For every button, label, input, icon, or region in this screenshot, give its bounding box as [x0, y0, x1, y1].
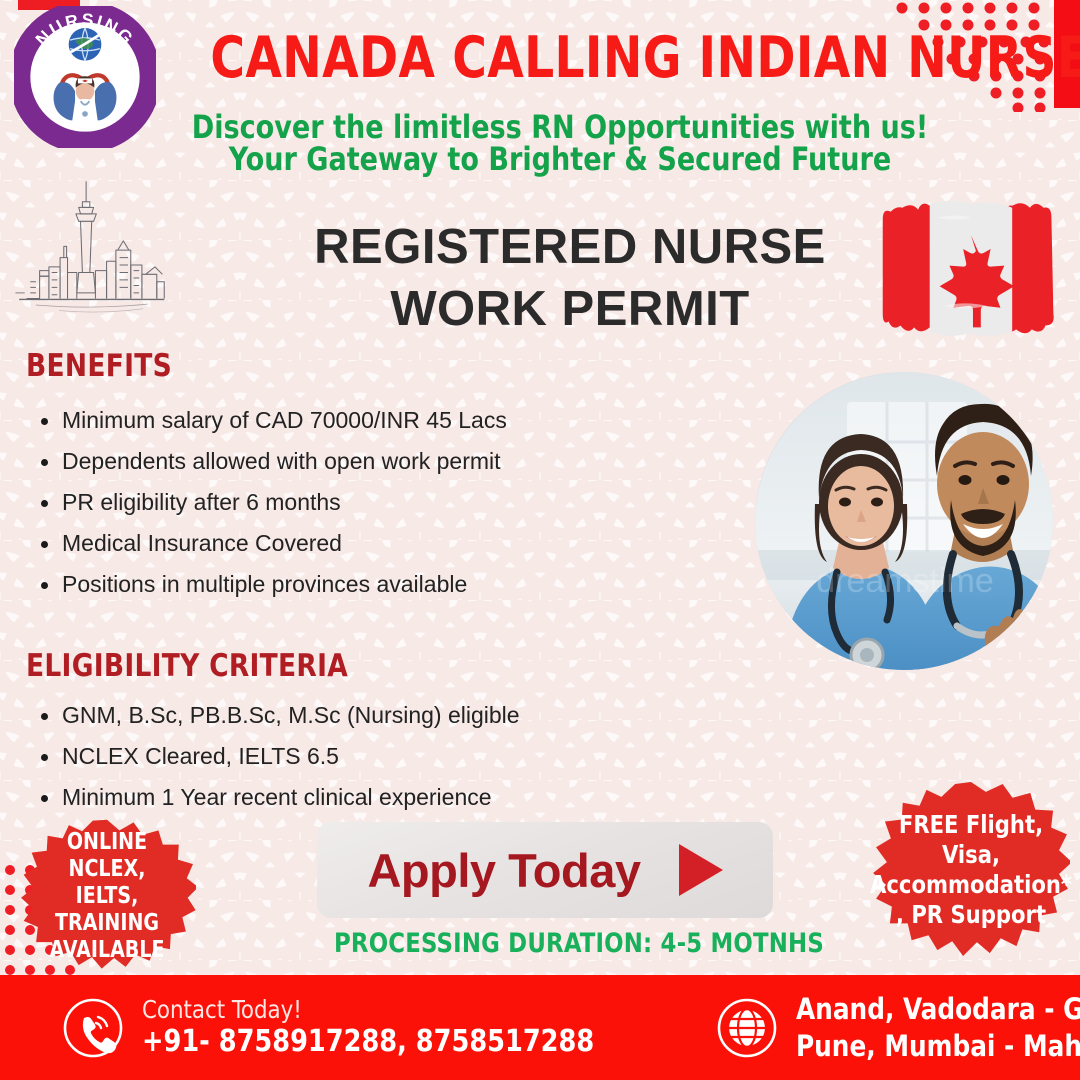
toronto-skyline-illustration: [8, 176, 194, 328]
play-triangle-icon: [679, 844, 723, 896]
list-item: PR eligibility after 6 months: [30, 482, 730, 523]
benefits-heading: BENEFITS: [26, 348, 172, 384]
contact-today-label: Contact Today!: [142, 996, 594, 1024]
two-nurses-photo: dreamstime: [755, 372, 1053, 670]
list-item: Positions in multiple provinces availabl…: [30, 564, 730, 605]
processing-duration-text: PROCESSING DURATION: 4-5 MOTNHS: [334, 928, 824, 959]
eligibility-list: GNM, B.Sc, PB.B.Sc, M.Sc (Nursing) eligi…: [30, 695, 730, 818]
free-benefits-badge: FREE Flight, Visa, Accommodation* , PR S…: [872, 780, 1070, 960]
benefits-list: Minimum salary of CAD 70000/INR 45 Lacs …: [30, 400, 730, 605]
list-item: Medical Insurance Covered: [30, 523, 730, 564]
globe-icon: [716, 997, 778, 1059]
contact-phone-numbers[interactable]: +91- 8758917288, 8758517288: [142, 1024, 594, 1060]
subheadline-2: Your Gateway to Brighter & Secured Futur…: [184, 140, 936, 178]
eligibility-heading: ELIGIBILITY CRITERIA: [26, 648, 348, 684]
address-line-1: Anand, Vadodara - Gujarat: [796, 991, 1080, 1028]
contact-phone-group: Contact Today! +91- 8758917288, 87585172…: [62, 996, 618, 1060]
contact-location-group: Anand, Vadodara - Gujarat Pune, Mumbai -…: [716, 991, 1080, 1065]
canada-flag-brush: [872, 196, 1070, 348]
list-item: GNM, B.Sc, PB.B.Sc, M.Sc (Nursing) eligi…: [30, 695, 730, 736]
apply-button-label: Apply Today: [367, 843, 640, 898]
list-item: Dependents allowed with open work permit: [30, 441, 730, 482]
page-title: REGISTERED NURSE WORK PERMIT: [270, 216, 870, 340]
phone-ring-icon: [62, 997, 124, 1059]
contact-bar: Contact Today! +91- 8758917288, 87585172…: [0, 975, 1080, 1080]
list-item: Minimum 1 Year recent clinical experienc…: [30, 777, 730, 818]
address-line-2: Pune, Mumbai - Maharashtra: [796, 1028, 1080, 1065]
nursing-training-centre-logo: NURSING TRAINING CENTRE: [14, 6, 156, 148]
list-item: NCLEX Cleared, IELTS 6.5: [30, 736, 730, 777]
headline: CANADA CALLING INDIAN NURSES: [210, 28, 909, 88]
online-training-badge: ONLINE NCLEX, IELTS, TRAINING AVAILABLE: [18, 818, 196, 974]
poster-canvas: NURSING TRAINING CENTRE: [0, 0, 1080, 1080]
svg-text:dreamstime: dreamstime: [816, 562, 994, 600]
title-line-1: REGISTERED NURSE: [270, 216, 870, 278]
title-line-2: WORK PERMIT: [270, 278, 870, 340]
list-item: Minimum salary of CAD 70000/INR 45 Lacs: [30, 400, 730, 441]
apply-today-button[interactable]: Apply Today: [317, 822, 773, 918]
